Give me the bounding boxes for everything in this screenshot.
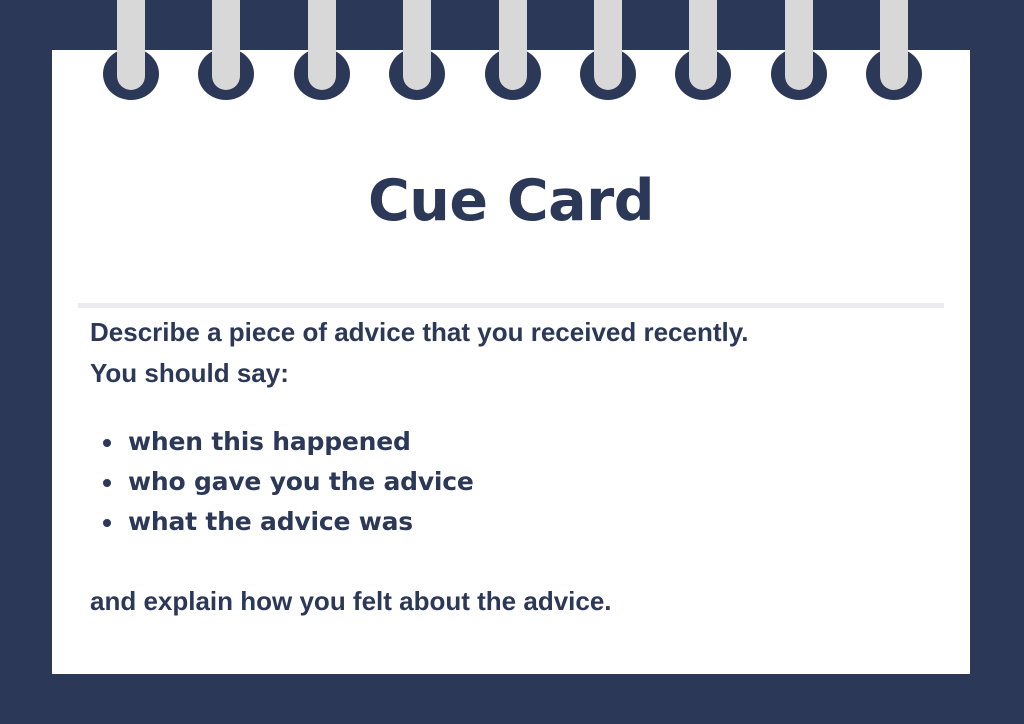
cue-card-bullet-list: when this happened who gave you the advi… xyxy=(90,422,950,542)
prompt-line-1: Describe a piece of advice that you rece… xyxy=(90,312,950,353)
page-title: Cue Card xyxy=(52,170,970,233)
list-item: when this happened xyxy=(90,422,950,462)
bullet-dot-icon xyxy=(103,519,111,527)
list-item-label: who gave you the advice xyxy=(128,467,474,496)
closing-line: and explain how you felt about the advic… xyxy=(90,584,950,618)
bullet-dot-icon xyxy=(103,479,111,487)
cue-card-body: Describe a piece of advice that you rece… xyxy=(90,312,950,618)
list-item: who gave you the advice xyxy=(90,462,950,502)
list-item: what the advice was xyxy=(90,502,950,542)
list-item-label: when this happened xyxy=(128,427,411,456)
cue-card-slide: Cue Card Describe a piece of advice that… xyxy=(0,0,1024,724)
bullet-dot-icon xyxy=(103,439,111,447)
notepad-card: Cue Card Describe a piece of advice that… xyxy=(52,50,970,674)
list-item-label: what the advice was xyxy=(128,507,413,536)
prompt-line-2: You should say: xyxy=(90,353,950,394)
horizontal-rule xyxy=(78,303,944,308)
